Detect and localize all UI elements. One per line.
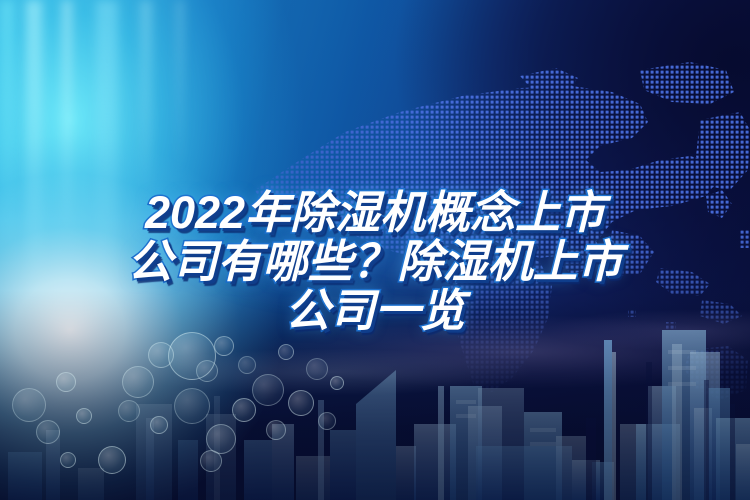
bubble	[196, 360, 218, 382]
bubble	[238, 356, 256, 374]
headline-line-1: 2022年除湿机概念上市	[0, 188, 750, 237]
bubble	[98, 446, 126, 474]
bubble	[306, 358, 328, 380]
headline-line-2: 公司有哪些？除湿机上市	[0, 237, 750, 286]
bubble	[150, 416, 168, 434]
bubble	[278, 344, 294, 360]
bubble	[330, 376, 344, 390]
bubble	[232, 398, 256, 422]
bubble	[76, 408, 92, 424]
bubble	[252, 374, 284, 406]
bubble	[60, 452, 76, 468]
bubble	[36, 420, 60, 444]
bubble	[288, 390, 314, 416]
page-title: 2022年除湿机概念上市 公司有哪些？除湿机上市 公司一览	[0, 188, 750, 335]
bubble	[12, 388, 46, 422]
headline-line-3: 公司一览	[0, 286, 750, 335]
bubble	[200, 450, 222, 472]
bubble	[174, 388, 210, 424]
poster-canvas: 2022年除湿机概念上市 公司有哪些？除湿机上市 公司一览	[0, 0, 750, 500]
bubble	[118, 400, 140, 422]
bubble	[318, 412, 336, 430]
bubble	[214, 336, 234, 356]
bubble	[122, 366, 154, 398]
bubble	[56, 372, 76, 392]
bubble	[266, 420, 286, 440]
